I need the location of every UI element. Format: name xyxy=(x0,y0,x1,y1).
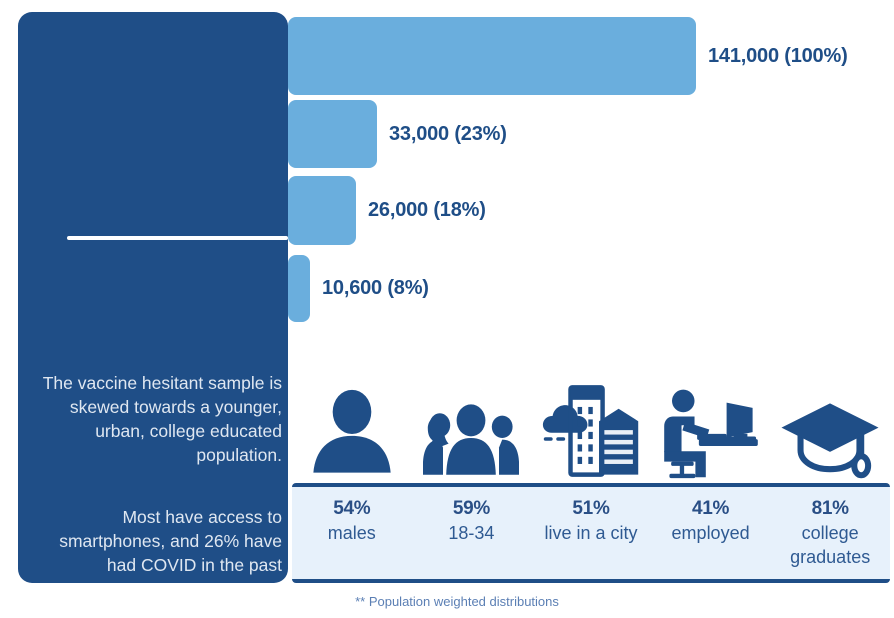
stat-percent: 51% xyxy=(531,496,651,521)
person-at-desk-icon xyxy=(652,376,770,480)
bar-value-label: 141,000 (100%) xyxy=(708,45,848,68)
bar xyxy=(288,255,310,322)
group-of-people-icon xyxy=(412,376,530,480)
icon-row xyxy=(292,368,890,480)
stat-item: 81% college graduates xyxy=(770,487,890,579)
stat-percent: 54% xyxy=(292,496,412,521)
stat-caption: college graduates xyxy=(770,521,890,569)
stat-caption: males xyxy=(292,521,412,545)
stat-percent: 41% xyxy=(651,496,771,521)
note-demographics: The vaccine hesitant sample is skewed to… xyxy=(34,371,282,467)
stat-caption: employed xyxy=(651,521,771,545)
stat-item: 41% employed xyxy=(651,487,771,579)
bar xyxy=(288,176,356,245)
single-person-icon xyxy=(293,376,411,480)
stat-item: 54% males xyxy=(292,487,412,579)
bar xyxy=(288,17,696,95)
stat-item: 59% 18-34 xyxy=(412,487,532,579)
bar xyxy=(288,100,377,168)
stat-caption: live in a city xyxy=(531,521,651,545)
graduation-cap-icon xyxy=(771,376,889,480)
stats-strip: 54% males 59% 18-34 51% live in a city 4… xyxy=(292,483,890,583)
bar-value-label: 10,600 (8%) xyxy=(322,277,429,300)
section-divider xyxy=(67,236,288,240)
stat-item: 51% live in a city xyxy=(531,487,651,579)
note-smartphones-covid: Most have access to smartphones, and 26%… xyxy=(34,505,282,577)
bar-value-label: 26,000 (18%) xyxy=(368,199,486,222)
infographic-root: 141,000 (100%) Total respondents 33,000 … xyxy=(0,0,894,618)
stat-caption: 18-34 xyxy=(412,521,532,545)
footnote: ** Population weighted distributions xyxy=(0,594,894,609)
bar-value-label: 33,000 (23%) xyxy=(389,123,507,146)
left-dark-panel xyxy=(18,12,288,583)
city-buildings-icon xyxy=(532,376,650,480)
stat-percent: 81% xyxy=(770,496,890,521)
stat-percent: 59% xyxy=(412,496,532,521)
